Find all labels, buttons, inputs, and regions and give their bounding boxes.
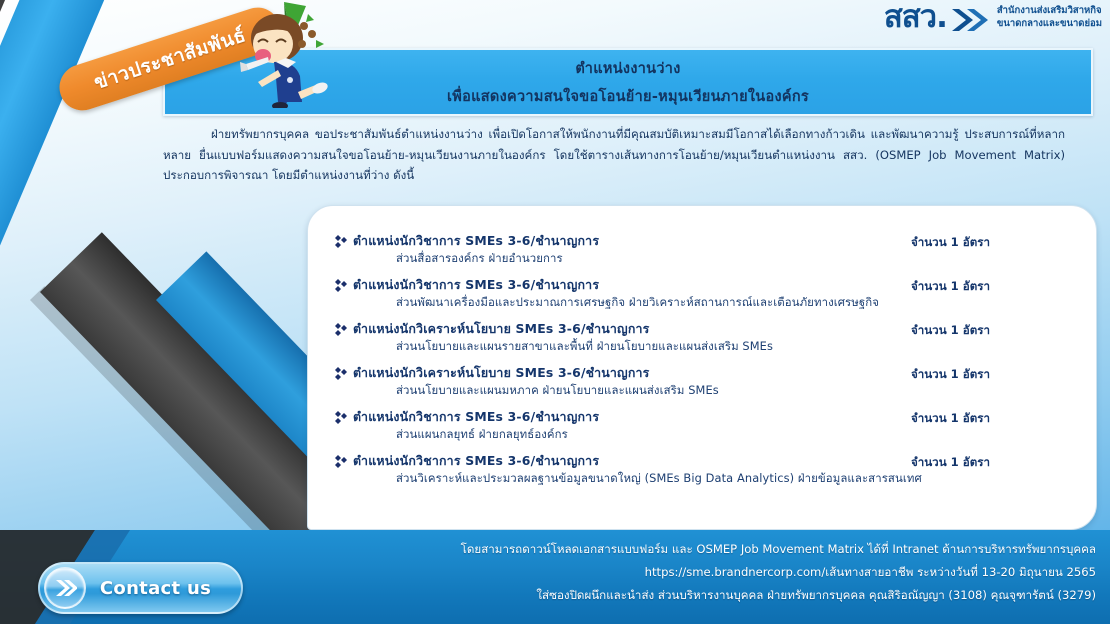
double-chevron-icon (950, 7, 990, 33)
logo-subtitle-line-2: ขนาดกลางและขนาดย่อม (997, 18, 1102, 30)
job-vacancy-count: จำนวน 1 อัตรา (911, 278, 990, 296)
list-item[interactable]: ตำแหน่งนักวิเคราะห์นโยบาย SMEs 3-6/ชำนาญ… (308, 320, 1096, 355)
job-vacancy-count: จำนวน 1 อัตรา (911, 234, 990, 252)
diamond-cluster-bullet-icon (332, 454, 348, 470)
job-list: ตำแหน่งนักวิชาการ SMEs 3-6/ชำนาญการ ส่วน… (308, 224, 1096, 487)
logo-subtitle: สำนักงานส่งเสริมวิสาหกิจ ขนาดกลางและขนาด… (997, 5, 1102, 29)
list-item[interactable]: ตำแหน่งนักวิชาการ SMEs 3-6/ชำนาญการ ส่วน… (308, 452, 1096, 487)
list-item[interactable]: ตำแหน่งนักวิชาการ SMEs 3-6/ชำนาญการ ส่วน… (308, 232, 1096, 267)
footer-line-1: โดยสามารถดาวน์โหลดเอกสารแบบฟอร์ม และ OSM… (461, 538, 1096, 561)
job-vacancy-count: จำนวน 1 อัตรา (911, 410, 990, 428)
footer-text-block: โดยสามารถดาวน์โหลดเอกสารแบบฟอร์ม และ OSM… (461, 538, 1096, 607)
logo-subtitle-line-1: สำนักงานส่งเสริมวิสาหกิจ (997, 5, 1102, 17)
list-item[interactable]: ตำแหน่งนักวิเคราะห์นโยบาย SMEs 3-6/ชำนาญ… (308, 364, 1096, 399)
intro-paragraph-text: ฝ่ายทรัพยากรบุคคล ขอประชาสัมพันธ์ตำแหน่ง… (163, 127, 1065, 182)
job-vacancy-count: จำนวน 1 อัตรา (911, 366, 990, 384)
intro-paragraph: ฝ่ายทรัพยากรบุคคล ขอประชาสัมพันธ์ตำแหน่ง… (163, 124, 1065, 186)
diamond-cluster-bullet-icon (332, 410, 348, 426)
page-title: ตำแหน่งงานว่าง (575, 57, 680, 80)
job-listing-card: ตำแหน่งนักวิชาการ SMEs 3-6/ชำนาญการ ส่วน… (307, 205, 1097, 530)
diamond-cluster-bullet-icon (332, 234, 348, 250)
diamond-cluster-bullet-icon (332, 322, 348, 338)
osmep-logo: สสว. สำนักงานส่งเสริมวิสาหกิจ ขนาดกลางแล… (884, 2, 1102, 33)
diamond-cluster-bullet-icon (332, 278, 348, 294)
contact-us-button[interactable]: Contact us (38, 562, 243, 614)
logo-wordmark: สสว. (884, 2, 947, 33)
contact-us-label: Contact us (86, 578, 241, 599)
page-subtitle: เพื่อแสดงความสนใจขอโอนย้าย-หมุนเวียนภายใ… (447, 85, 809, 108)
gray-diagonal-band-upper (0, 0, 48, 598)
job-vacancy-count: จำนวน 1 อัตรา (911, 322, 990, 340)
diamond-cluster-bullet-icon (332, 366, 348, 382)
list-item[interactable]: ตำแหน่งนักวิชาการ SMEs 3-6/ชำนาญการ ส่วน… (308, 408, 1096, 443)
footer-line-3: ใส่ซองปิดผนึกและนำส่ง ส่วนบริหารงานบุคคล… (461, 584, 1096, 607)
double-chevron-right-icon (44, 567, 86, 609)
cheering-student-mascot-icon (232, 0, 337, 108)
job-vacancy-count: จำนวน 1 อัตรา (911, 454, 990, 472)
footer-line-2: https://sme.brandnercorp.com/เส้นทางสายอ… (461, 561, 1096, 584)
list-item[interactable]: ตำแหน่งนักวิชาการ SMEs 3-6/ชำนาญการ ส่วน… (308, 276, 1096, 311)
logo-mark: สสว. (884, 2, 990, 33)
intro-paragraph-block: ฝ่ายทรัพยากรบุคคล ขอประชาสัมพันธ์ตำแหน่ง… (163, 124, 1065, 186)
